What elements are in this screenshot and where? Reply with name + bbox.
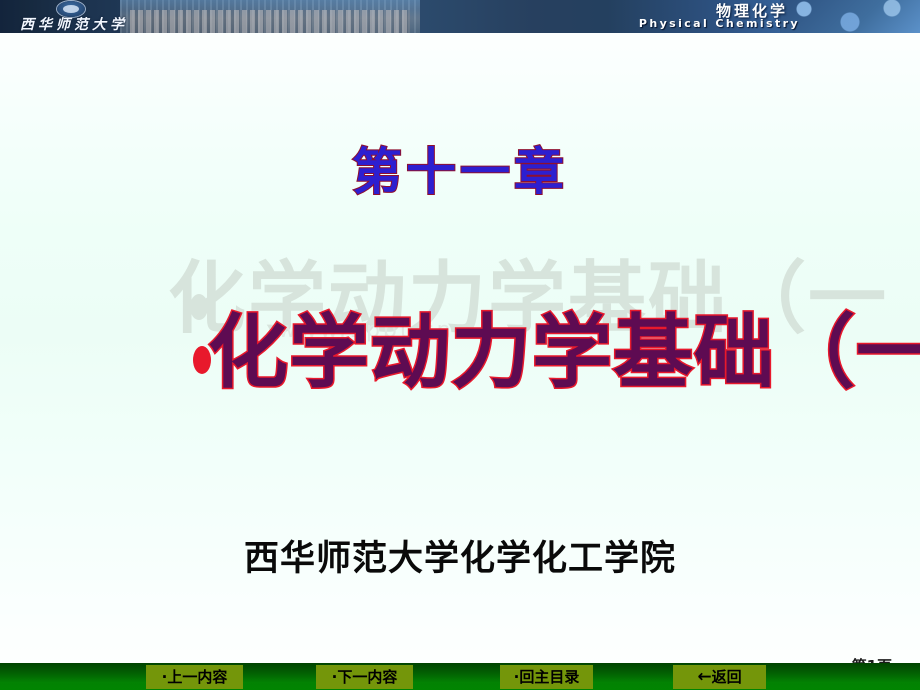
molecule-graphic-icon	[780, 0, 920, 33]
subtitle-affiliation: 西华师范大学化学化工学院	[0, 530, 920, 581]
campus-photo-image	[120, 0, 420, 33]
bottom-navigation-bar: ·上一内容 ·下一内容 ·回主目录 ←返回	[0, 663, 920, 690]
prev-content-button[interactable]: ·上一内容	[146, 665, 243, 689]
slide-canvas: 西华师范大学 物理化学 Physical Chemistry 第十一章 化学动力…	[0, 0, 920, 690]
left-arrow-icon: ←	[697, 667, 711, 687]
page-title: 化学动力学基础（一	[208, 288, 920, 404]
header-banner: 西华师范大学 物理化学 Physical Chemistry	[0, 0, 920, 33]
title-block: 化学动力学基础（一 www.1ppt.cn 化学动力学基础（一	[0, 236, 920, 426]
back-button[interactable]: ←返回	[673, 665, 766, 689]
back-button-label: 返回	[712, 668, 742, 686]
university-name-text: 西华师范大学	[20, 14, 128, 33]
course-title-en: Physical Chemistry	[639, 17, 800, 30]
next-content-button[interactable]: ·下一内容	[316, 665, 413, 689]
chapter-heading: 第十一章	[0, 132, 920, 204]
main-contents-button[interactable]: ·回主目录	[500, 665, 593, 689]
bullet-dot-icon	[193, 346, 211, 374]
